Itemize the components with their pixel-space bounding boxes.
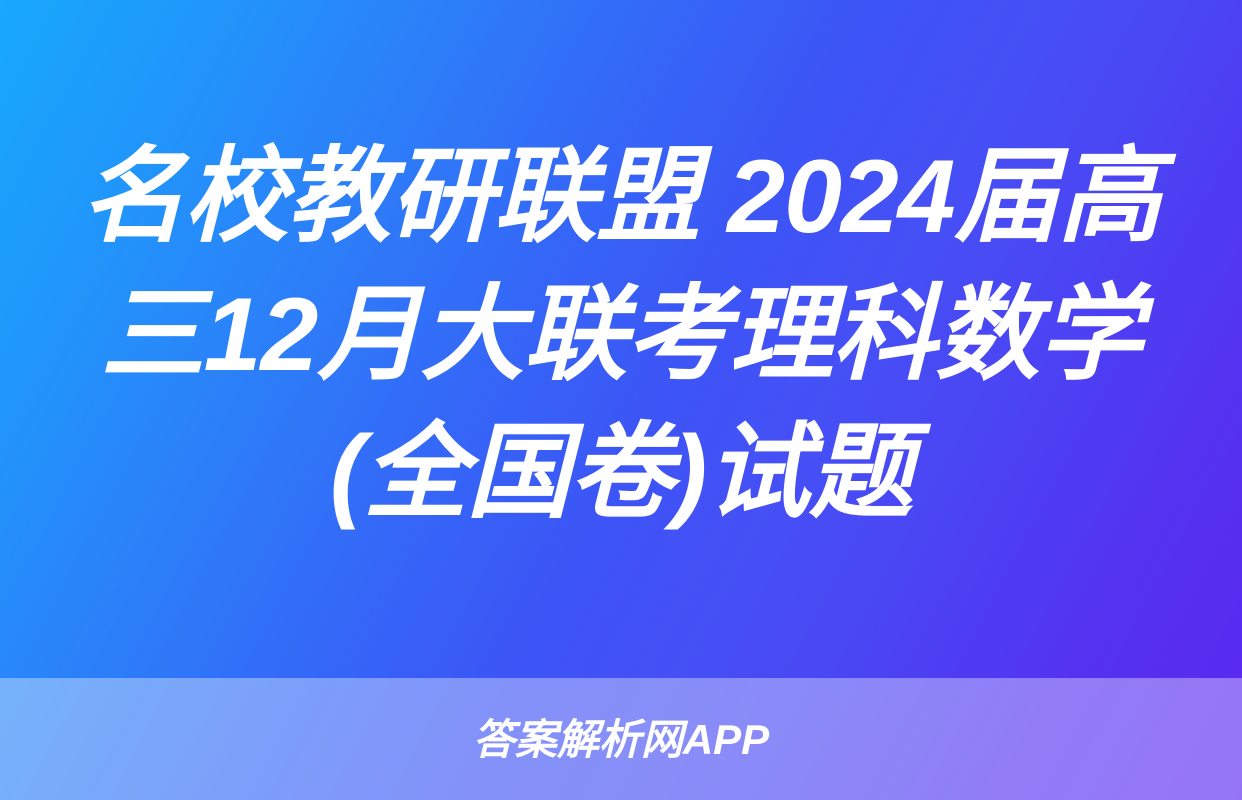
- page-title: 名校教研联盟 2024届高三12月大联考理科数学(全国卷)试题: [81, 128, 1161, 543]
- headline-block: 名校教研联盟 2024届高三12月大联考理科数学(全国卷)试题: [0, 0, 1242, 678]
- footer-watermark-bar: 答案解析网APP: [0, 678, 1242, 800]
- app-watermark-label: 答案解析网APP: [473, 719, 769, 761]
- poster-canvas: 名校教研联盟 2024届高三12月大联考理科数学(全国卷)试题 答案解析网APP: [0, 0, 1242, 800]
